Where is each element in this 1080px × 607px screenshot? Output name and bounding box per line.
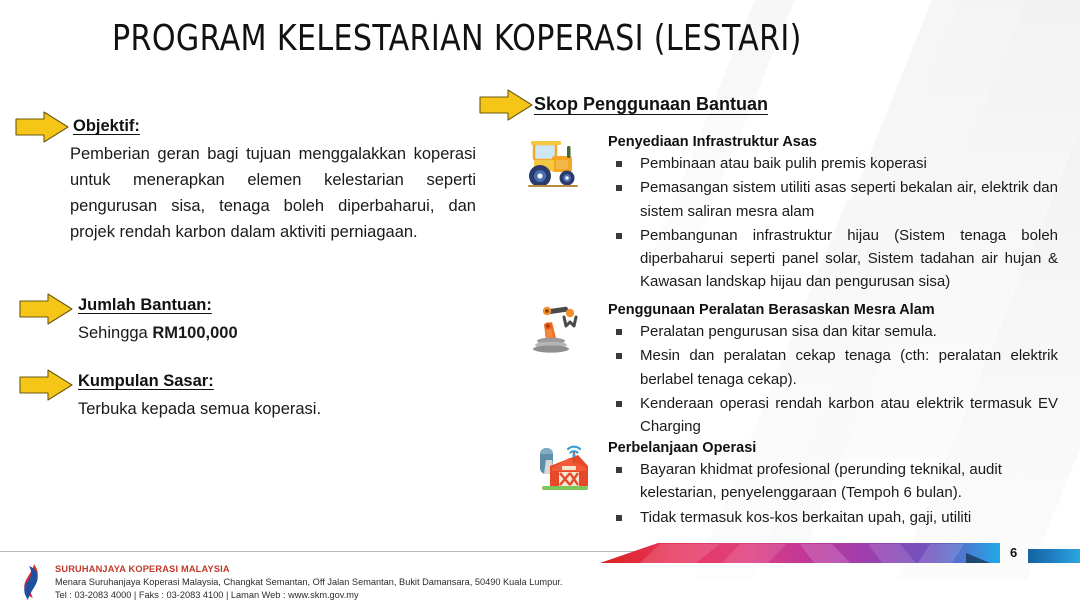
list-item: Peralatan pengurusan sisa dan kitar semu… <box>608 320 1058 343</box>
footer-color-band <box>600 541 1000 565</box>
kumpulan-sasar-body: Terbuka kepada semua koperasi. <box>78 396 478 422</box>
tractor-icon <box>522 136 584 192</box>
scope-section-heading: Penggunaan Peralatan Berasaskan Mesra Al… <box>608 302 935 318</box>
jumlah-bantuan-body: Sehingga RM100,000 <box>78 320 478 346</box>
objektif-body: Pemberian geran bagi tujuan menggalakkan… <box>70 141 476 245</box>
skm-logo-icon <box>14 562 48 602</box>
scope-bullet-list: Peralatan pengurusan sisa dan kitar semu… <box>608 320 1058 439</box>
kumpulan-sasar-heading: Kumpulan Sasar: <box>78 372 214 391</box>
list-item: Pemasangan sistem utiliti asas seperti b… <box>608 176 1058 223</box>
arrow-bullet-skop-icon <box>478 88 534 122</box>
jumlah-bantuan-prefix: Sehingga <box>78 324 152 342</box>
robot-arm-icon <box>530 300 592 356</box>
slide-title: PROGRAM KELESTARIAN KOPERASI (LESTARI) <box>112 18 802 59</box>
footer-address: Menara Suruhanjaya Koperasi Malaysia, Ch… <box>55 577 562 588</box>
footer-divider <box>0 551 640 552</box>
scope-section-heading: Perbelanjaan Operasi <box>608 440 756 456</box>
scope-section-heading: Penyediaan Infrastruktur Asas <box>608 134 817 150</box>
list-item: Pembinaan atau baik pulih premis koperas… <box>608 152 1058 175</box>
arrow-bullet-objektif-icon <box>14 110 70 144</box>
jumlah-bantuan-heading: Jumlah Bantuan: <box>78 296 212 315</box>
scope-bullet-list: Bayaran khidmat profesional (perunding t… <box>608 458 1058 530</box>
barn-icon <box>532 438 594 494</box>
arrow-bullet-jumlah-bantuan-icon <box>18 292 74 326</box>
list-item: Kenderaan operasi rendah karbon atau ele… <box>608 392 1058 439</box>
jumlah-bantuan-amount: RM100,000 <box>152 324 237 342</box>
page-number: 6 <box>1010 545 1017 560</box>
list-item: Tidak termasuk kos-kos berkaitan upah, g… <box>608 506 1058 529</box>
footer-org-name: SURUHANJAYA KOPERASI MALAYSIA <box>55 564 230 575</box>
scope-bullet-list: Pembinaan atau baik pulih premis koperas… <box>608 152 1058 295</box>
list-item: Mesin dan peralatan cekap tenaga (cth: p… <box>608 344 1058 391</box>
objektif-heading: Objektif: <box>73 117 140 136</box>
list-item: Bayaran khidmat profesional (perunding t… <box>608 458 1058 505</box>
page-number-bar <box>1028 549 1080 563</box>
arrow-bullet-kumpulan-sasar-icon <box>18 368 74 402</box>
list-item: Pembangunan infrastruktur hijau (Sistem … <box>608 224 1058 294</box>
skop-penggunaan-bantuan-heading: Skop Penggunaan Bantuan <box>534 94 768 115</box>
slide-canvas: PROGRAM KELESTARIAN KOPERASI (LESTARI) O… <box>0 0 1080 607</box>
footer-contact: Tel : 03-2083 4000 | Faks : 03-2083 4100… <box>55 590 359 601</box>
